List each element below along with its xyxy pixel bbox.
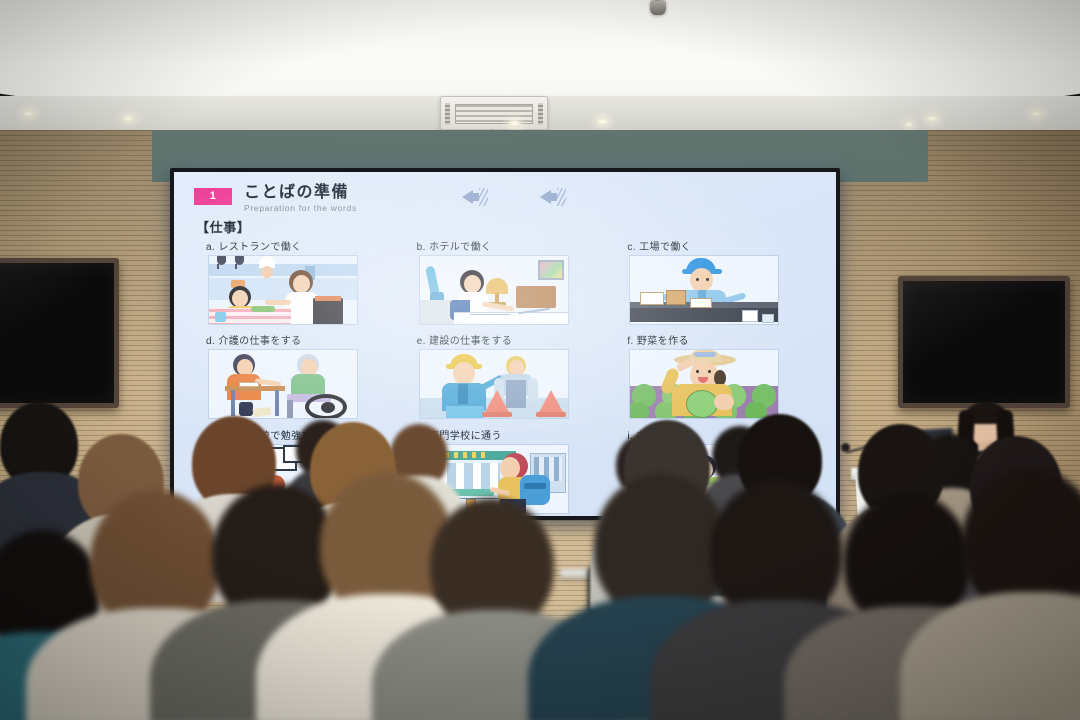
downlight-icon: [905, 122, 913, 127]
slide-title: ことばの準備: [244, 184, 357, 202]
slide-header: 1 ことばの準備 Preparation for the words: [194, 184, 818, 213]
ac-vent-icon: [440, 96, 548, 130]
speaker-icon[interactable]: [540, 186, 566, 208]
section-label: 【仕事】: [196, 217, 818, 236]
audience-member-foreground: [924, 468, 1080, 720]
downlight-icon: [596, 118, 609, 125]
fire-sprinkler-icon: [650, 0, 666, 15]
lecture-hall-scene: 1 ことばの準備 Preparation for the words: [0, 0, 1080, 720]
right-wall-monitor: [898, 276, 1070, 408]
vocab-item-f: f. 野菜を作る: [615, 332, 818, 425]
downlight-icon: [508, 120, 521, 127]
vocab-item-c: c. 工場で働く: [615, 238, 818, 331]
vocab-label: c. 工場で働く: [627, 238, 818, 253]
illustration-restaurant-waitress: [208, 255, 358, 325]
vocab-item-b: b. ホテルで働く: [405, 238, 608, 331]
vocab-label: a. レストランで働く: [206, 238, 397, 253]
illustration-construction-workers: [419, 349, 569, 419]
vocab-label: e. 建設の仕事をする: [417, 332, 608, 347]
downlight-icon: [22, 110, 35, 117]
downlight-icon: [122, 115, 135, 122]
speaker-icon[interactable]: [462, 186, 488, 208]
illustration-hotel-housekeeping: [419, 255, 569, 325]
audience: [0, 420, 1080, 720]
speaker-icon-group: [462, 186, 566, 208]
downlight-icon: [1030, 110, 1043, 117]
illustration-farmer-cabbage: [629, 349, 779, 419]
slide-number-badge: 1: [194, 188, 232, 205]
left-wall-monitor: [0, 258, 119, 408]
vocab-item-e: e. 建設の仕事をする: [405, 332, 608, 425]
illustration-factory-worker: [629, 255, 779, 325]
vocab-item-d: d. 介護の仕事をする: [194, 332, 397, 425]
slide-subtitle: Preparation for the words: [244, 203, 357, 213]
vocab-item-a: a. レストランで働く: [194, 238, 397, 331]
vocab-label: d. 介護の仕事をする: [206, 332, 397, 347]
vocab-label: f. 野菜を作る: [627, 332, 818, 347]
illustration-caregiver-wheelchair: [208, 349, 358, 419]
vocab-label: b. ホテルで働く: [417, 238, 608, 253]
downlight-icon: [926, 115, 939, 122]
